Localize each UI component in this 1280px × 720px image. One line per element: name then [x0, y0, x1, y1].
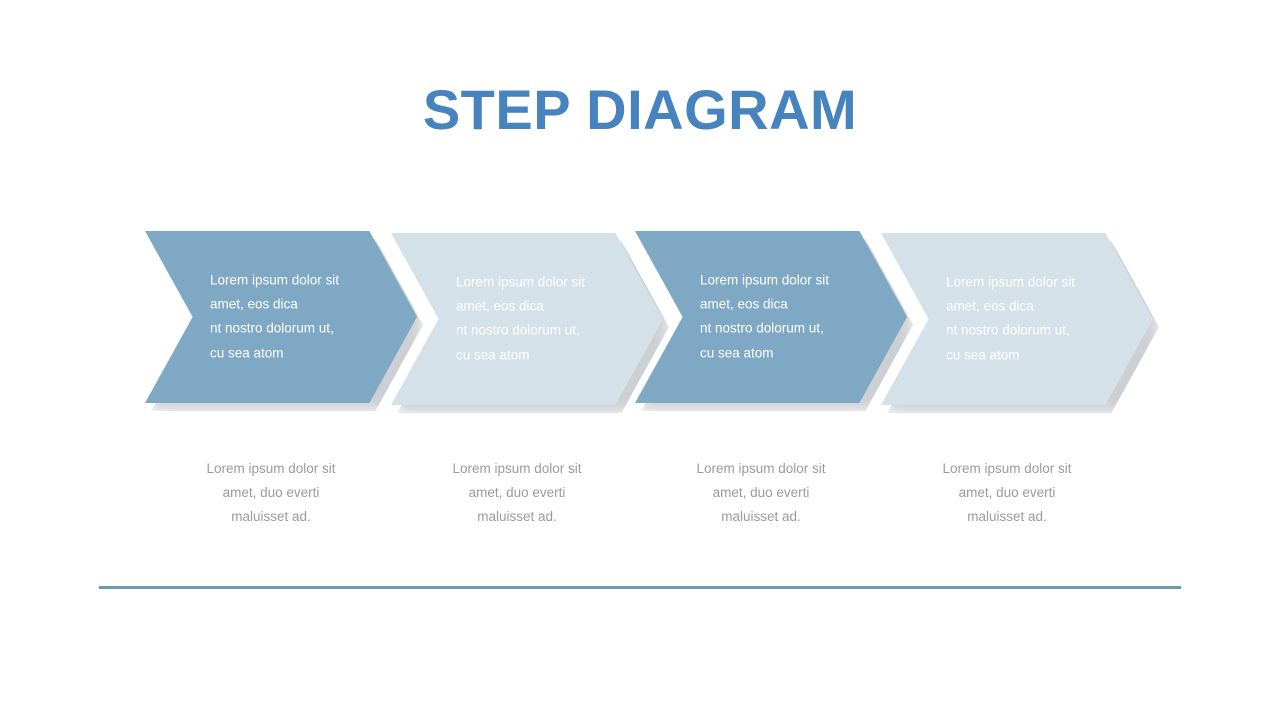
step-chevron-row: Lorem ipsum dolor sit amet, eos dica nt … — [0, 0, 1280, 720]
step-caption-row: Lorem ipsum dolor sit amet, duo everti m… — [0, 457, 1280, 547]
step-chevron-4[interactable]: Lorem ipsum dolor sit amet, eos dica nt … — [881, 233, 1153, 405]
step-chevron-1-body: Lorem ipsum dolor sit amet, eos dica nt … — [210, 269, 339, 366]
step-chevron-2-body: Lorem ipsum dolor sit amet, eos dica nt … — [456, 271, 585, 368]
step-chevron-3-body: Lorem ipsum dolor sit amet, eos dica nt … — [700, 269, 829, 366]
step-chevron-1[interactable]: Lorem ipsum dolor sit amet, eos dica nt … — [145, 231, 417, 403]
step-caption-2: Lorem ipsum dolor sit amet, duo everti m… — [402, 457, 632, 529]
step-caption-1: Lorem ipsum dolor sit amet, duo everti m… — [156, 457, 386, 529]
step-chevron-2[interactable]: Lorem ipsum dolor sit amet, eos dica nt … — [391, 233, 663, 405]
step-chevron-3[interactable]: Lorem ipsum dolor sit amet, eos dica nt … — [635, 231, 907, 403]
slide-canvas: STEP DIAGRAM Lorem ipsum dolor sit amet,… — [0, 0, 1280, 720]
step-caption-4: Lorem ipsum dolor sit amet, duo everti m… — [892, 457, 1122, 529]
step-chevron-4-body: Lorem ipsum dolor sit amet, eos dica nt … — [946, 271, 1075, 368]
step-caption-3: Lorem ipsum dolor sit amet, duo everti m… — [646, 457, 876, 529]
footer-divider — [99, 586, 1181, 589]
